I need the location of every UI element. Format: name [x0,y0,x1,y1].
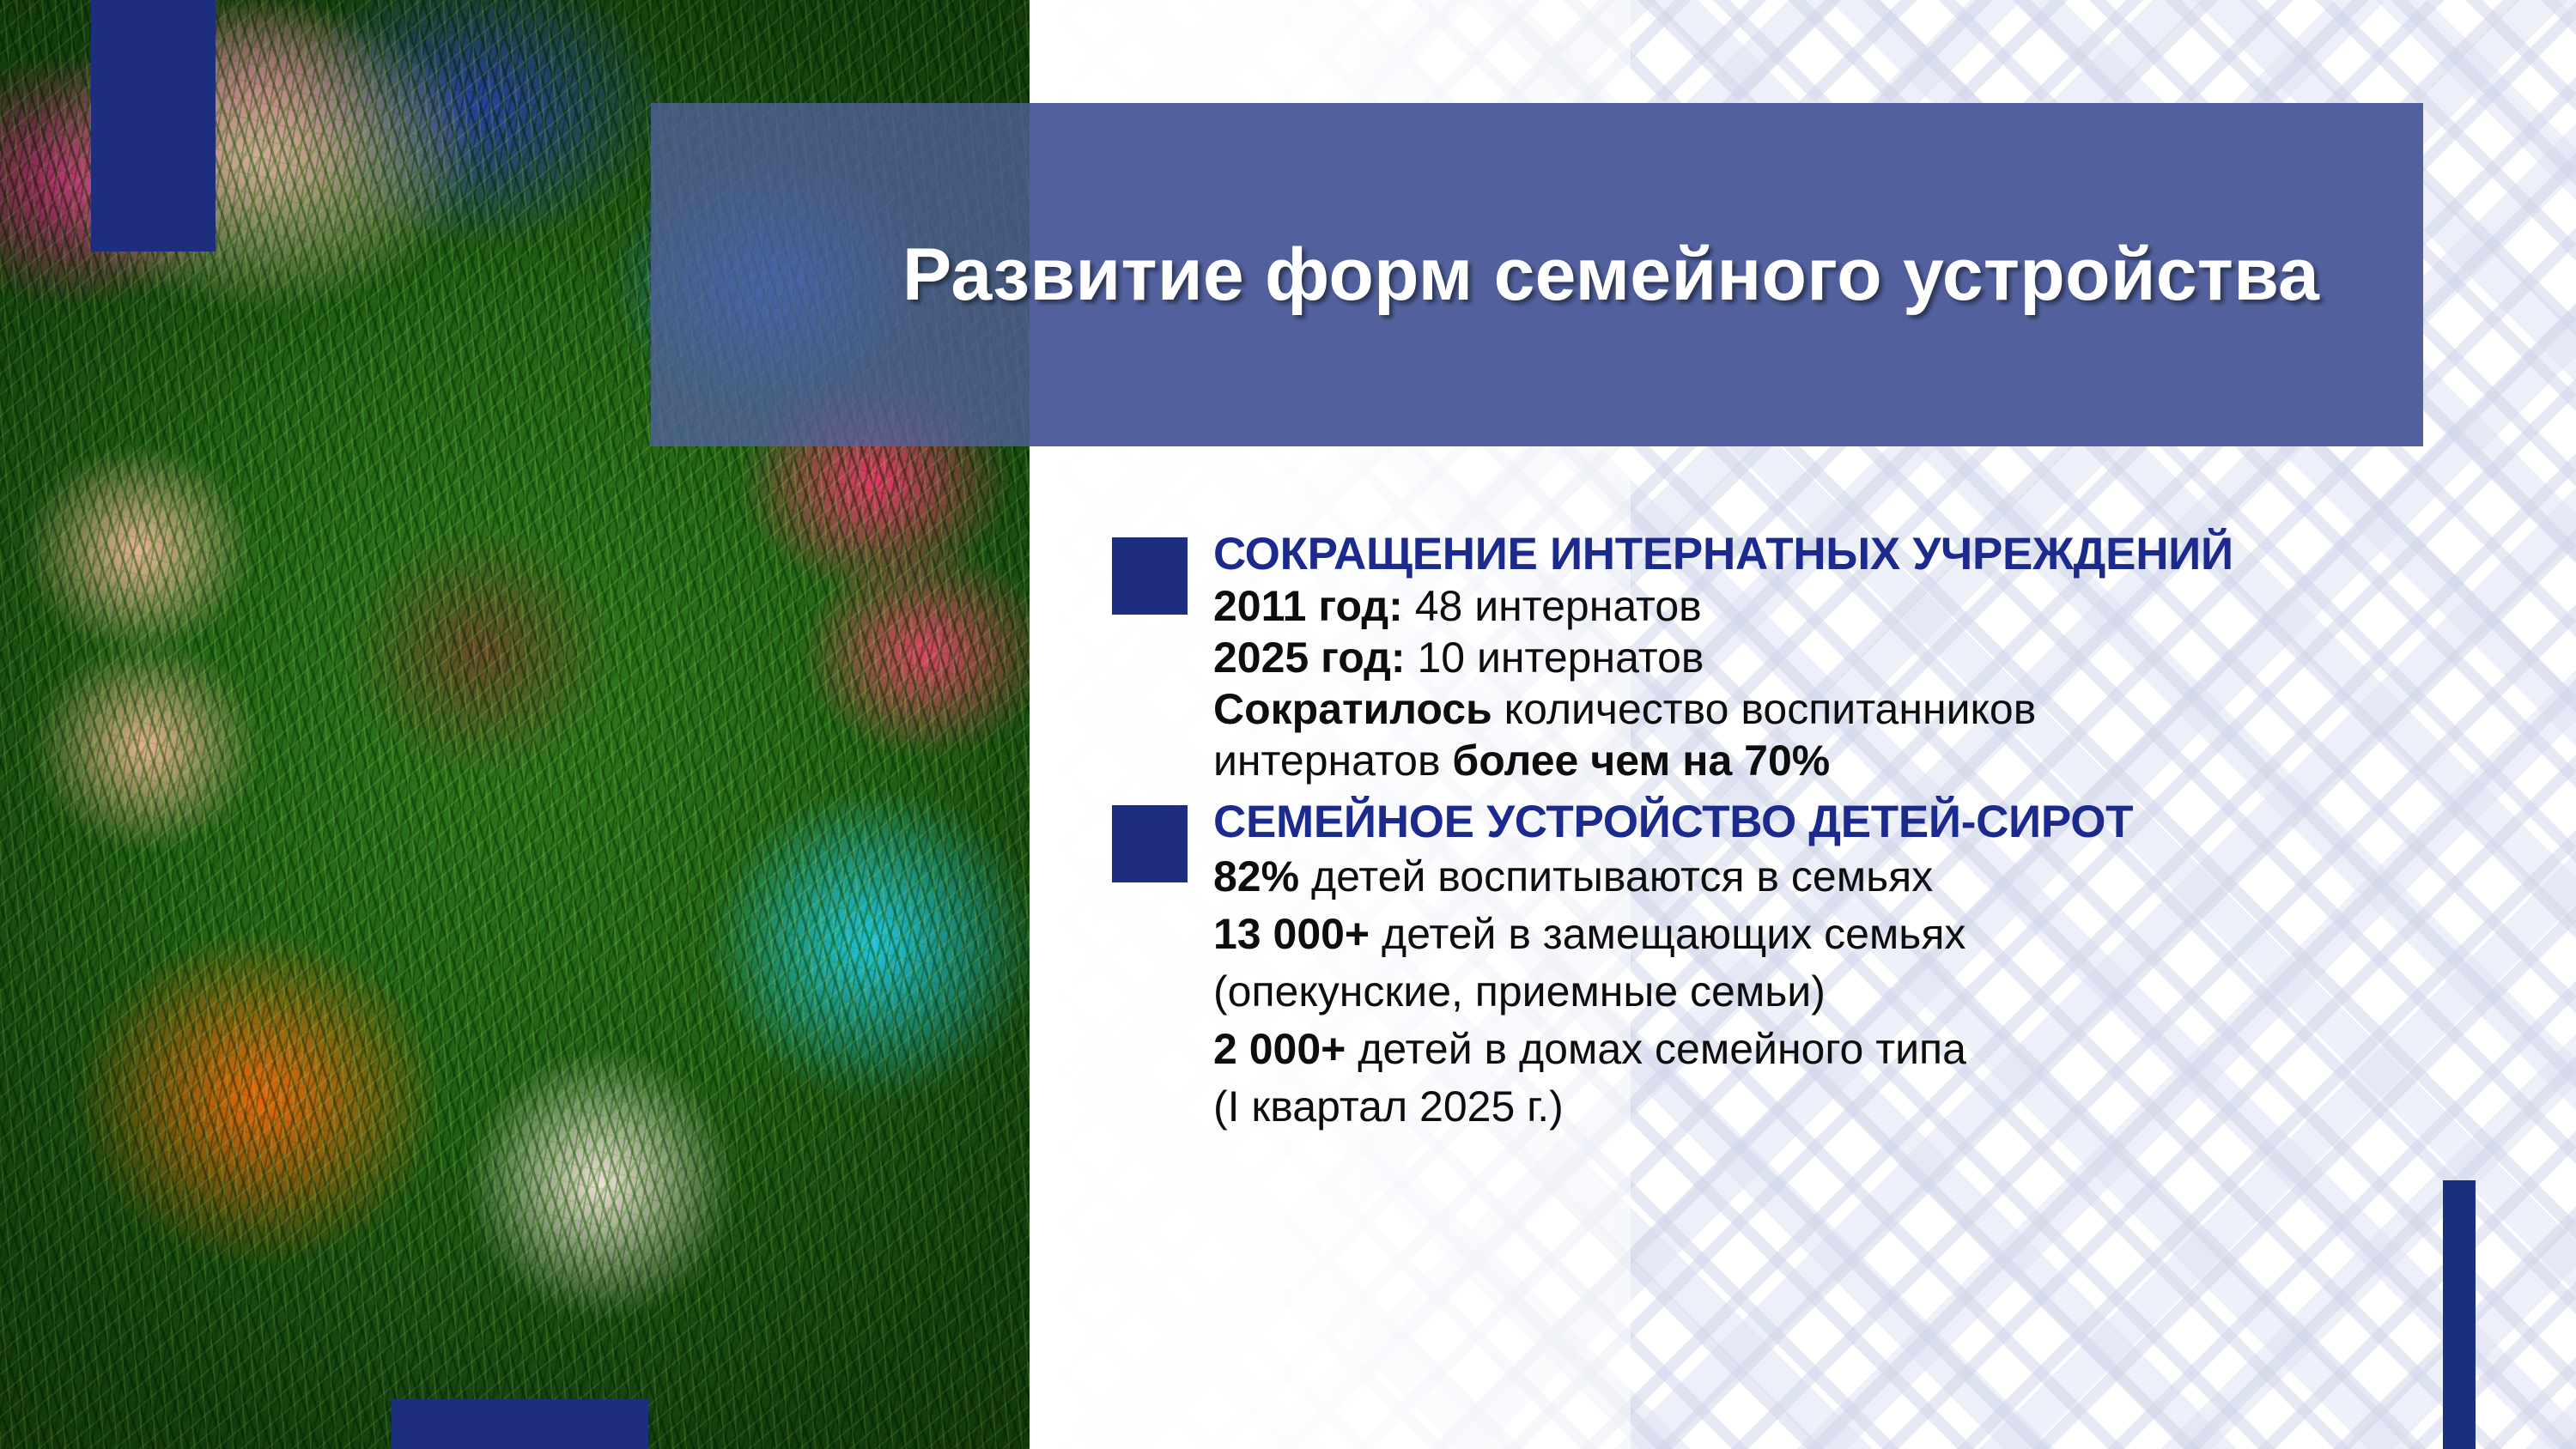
stat-line: 2025 год: 10 интернатов [1213,632,2494,683]
bullet-square-icon [1112,537,1188,615]
content-block-reduction: СОКРАЩЕНИЕ ИНТЕРНАТНЫХ УЧРЕЖДЕНИЙ 2011 г… [1112,530,2494,786]
stat-line: (I квартал 2025 г.) [1213,1078,2494,1136]
stat-line-rest: количество воспитанников [1492,685,2037,733]
decorative-rect-top-left [91,0,216,252]
stat-line-rest: детей в замещающих семьях [1370,910,1965,958]
stat-line: 82% детей воспитываются в семьях [1213,848,2494,906]
stat-line-rest: детей воспитываются в семьях [1299,852,1933,900]
content-block-family-placement: СЕМЕЙНОЕ УСТРОЙСТВО ДЕТЕЙ-СИРОТ 82% дете… [1112,798,2494,1136]
stat-line-strong: 2 000+ [1213,1025,1346,1073]
stat-line-strong: 82% [1213,852,1299,900]
stat-line-rest: 48 интернатов [1403,582,1702,630]
stat-line-strong: Сократилось [1213,685,1492,733]
stat-line-strong: 2025 год: [1213,634,1406,682]
block-heading-reduction: СОКРАЩЕНИЕ ИНТЕРНАТНЫХ УЧРЕЖДЕНИЙ [1213,530,2494,579]
stat-line: Сократилось количество воспитанников [1213,683,2494,735]
stat-line: интернатов более чем на 70% [1213,735,2494,786]
stat-line: 2011 год: 48 интернатов [1213,580,2494,632]
stat-line-strong: 2011 год: [1213,582,1403,630]
page-title: Развитие форм семейного устройства [799,103,2423,446]
stat-line-rest: детей в домах семейного типа [1346,1025,1966,1073]
decorative-rect-right-accent [2443,1180,2476,1449]
stat-line: 2 000+ детей в домах семейного типа [1213,1021,2494,1078]
stat-line-pre: интернатов [1213,737,1452,785]
stat-line-strong: более чем на 70% [1452,737,1830,785]
stat-line-rest: (I квартал 2025 г.) [1213,1082,1564,1131]
stat-line-rest: 10 интернатов [1406,634,1704,682]
presentation-slide: Развитие форм семейного устройства СОКРА… [0,0,2576,1449]
stat-line: (опекунские, приемные семьи) [1213,963,2494,1021]
decorative-rect-bottom-left [392,1399,648,1449]
stat-line-strong: 13 000+ [1213,910,1370,958]
bullet-square-icon [1112,805,1188,882]
block-heading-family-placement: СЕМЕЙНОЕ УСТРОЙСТВО ДЕТЕЙ-СИРОТ [1213,798,2494,846]
stat-line: 13 000+ детей в замещающих семьях [1213,906,2494,963]
stat-line-rest: (опекунские, приемные семьи) [1213,967,1826,1016]
content-column: СОКРАЩЕНИЕ ИНТЕРНАТНЫХ УЧРЕЖДЕНИЙ 2011 г… [1112,530,2494,1136]
